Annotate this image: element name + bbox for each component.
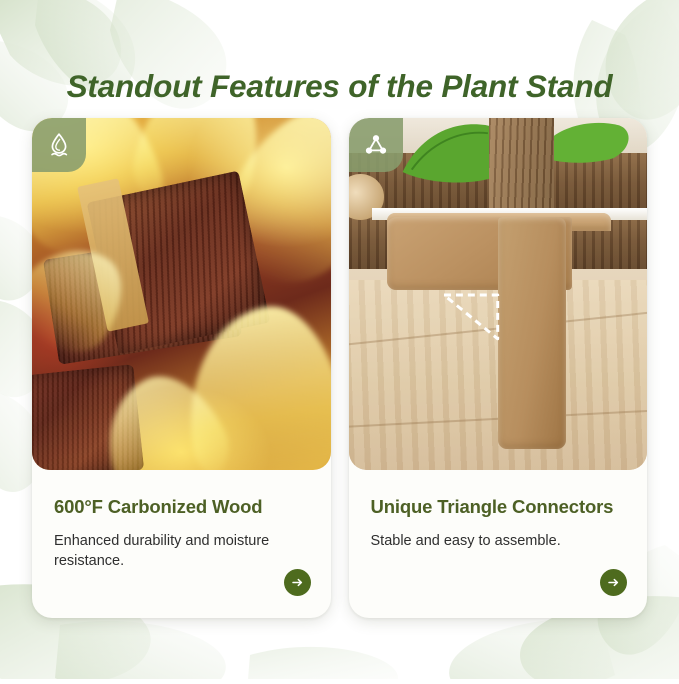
card-photo-connector <box>349 118 648 470</box>
card-photo-burning-wood <box>32 118 331 470</box>
feature-card-carbonized-wood[interactable]: 600°F Carbonized Wood Enhanced durabilit… <box>32 118 331 618</box>
card-body-carbonized-wood: 600°F Carbonized Wood Enhanced durabilit… <box>32 470 331 618</box>
badge-triangle-connector <box>349 118 403 172</box>
fire-photo-artwork <box>32 118 331 470</box>
card-title: Unique Triangle Connectors <box>371 496 626 518</box>
feature-card-triangle-connectors[interactable]: Unique Triangle Connectors Stable and ea… <box>349 118 648 618</box>
arrow-right-icon <box>606 575 621 590</box>
connector-photo-artwork <box>349 118 648 470</box>
arrow-right-icon <box>290 575 305 590</box>
card-arrow-button[interactable] <box>284 569 311 596</box>
card-title: 600°F Carbonized Wood <box>54 496 309 518</box>
badge-water-droplet <box>32 118 86 172</box>
feature-cards-row: 600°F Carbonized Wood Enhanced durabilit… <box>32 118 647 618</box>
card-body-triangle-connectors: Unique Triangle Connectors Stable and ea… <box>349 470 648 618</box>
dashed-triangle-annotation <box>441 287 501 347</box>
card-description: Enhanced durability and moisture resista… <box>54 531 274 571</box>
card-arrow-button[interactable] <box>600 569 627 596</box>
water-droplet-icon <box>44 130 74 160</box>
triangle-connector-icon <box>361 130 391 160</box>
page-title: Standout Features of the Plant Stand <box>0 68 679 105</box>
card-description: Stable and easy to assemble. <box>371 531 591 551</box>
